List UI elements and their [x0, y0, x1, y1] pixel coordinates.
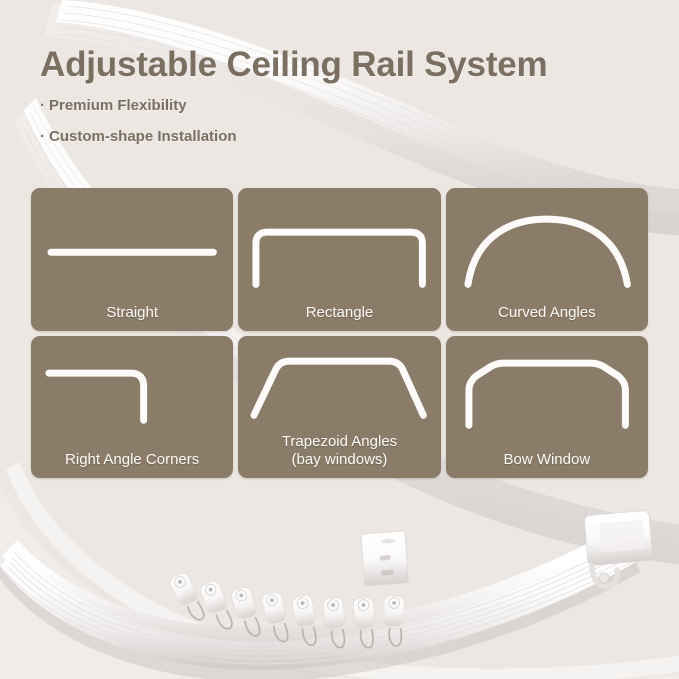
- header-block: Adjustable Ceiling Rail System ·Premium …: [40, 47, 547, 160]
- shape-card-label: Trapezoid Angles (bay windows): [238, 433, 440, 469]
- shape-label-main: Curved Angles: [498, 304, 596, 321]
- product-infographic: Adjustable Ceiling Rail System ·Premium …: [0, 0, 679, 679]
- shape-label-main: Straight: [106, 304, 158, 321]
- shape-card-trapezoid-angles[interactable]: Trapezoid Angles (bay windows): [238, 336, 440, 479]
- feature-bullets: ·Premium Flexibility ·Custom-shape Insta…: [40, 98, 547, 144]
- roller-gliders-group: [168, 571, 404, 649]
- page-title: Adjustable Ceiling Rail System: [40, 47, 547, 82]
- shape-label-main: Right Angle Corners: [65, 451, 199, 468]
- end-cap-with-hook: [584, 510, 653, 586]
- shape-card-label: Straight: [31, 304, 233, 322]
- shape-card-curved-angles[interactable]: Curved Angles: [446, 188, 648, 331]
- bullet-text: Custom-shape Installation: [49, 128, 237, 145]
- bullet-marker-icon: ·: [40, 97, 45, 114]
- shape-label-sub: (bay windows): [242, 451, 436, 469]
- shape-options-grid: Straight Rectangle Curved Angles: [31, 188, 648, 478]
- shape-label-main: Trapezoid Angles: [282, 433, 397, 450]
- shape-card-label: Rectangle: [238, 304, 440, 322]
- bullet-text: Premium Flexibility: [49, 97, 187, 114]
- shape-card-label: Curved Angles: [446, 304, 648, 322]
- shape-card-straight[interactable]: Straight: [31, 188, 233, 331]
- shape-card-bow-window[interactable]: Bow Window: [446, 336, 648, 479]
- shape-card-rectangle[interactable]: Rectangle: [238, 188, 440, 331]
- ceiling-mount-bracket: [361, 531, 409, 586]
- bullet-item: ·Custom-shape Installation: [40, 129, 547, 144]
- shape-card-label: Right Angle Corners: [31, 451, 233, 469]
- shape-card-label: Bow Window: [446, 451, 648, 469]
- shape-label-main: Bow Window: [503, 451, 590, 468]
- shape-label-main: Rectangle: [306, 304, 374, 321]
- bullet-marker-icon: ·: [40, 128, 45, 145]
- shape-card-right-angle-corners[interactable]: Right Angle Corners: [31, 336, 233, 479]
- bullet-item: ·Premium Flexibility: [40, 98, 547, 113]
